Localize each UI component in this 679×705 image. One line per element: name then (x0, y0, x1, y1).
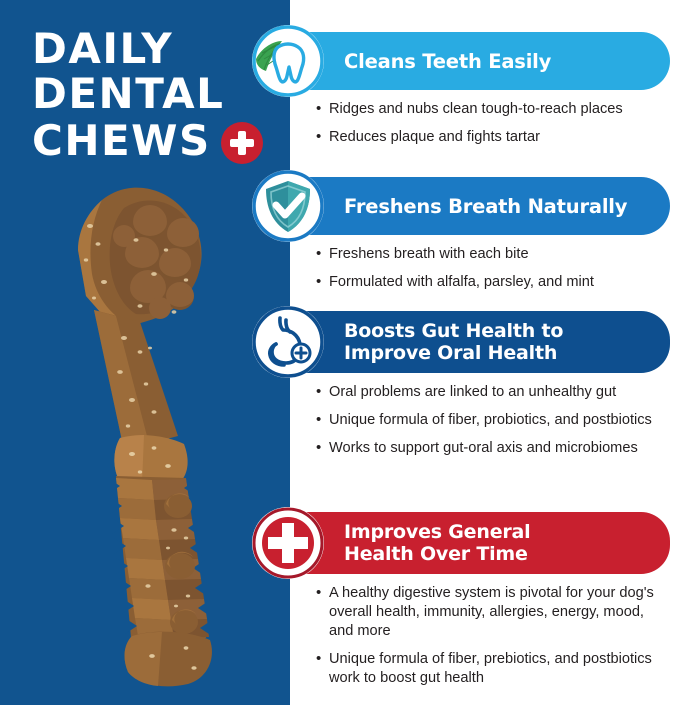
feature-title: Boosts Gut Health to Improve Oral Health (344, 320, 563, 364)
infographic-page: Daily Dental Chews (0, 0, 679, 705)
feature-banner: Freshens Breath Naturally (290, 177, 670, 235)
headline-line-3: Chews (32, 118, 211, 163)
features-column: Cleans Teeth Easily Ridges and nubs clea… (290, 0, 679, 705)
tooth-mint-leaf-icon (252, 25, 324, 97)
chew-head (78, 188, 202, 330)
chew-ridged-body (88, 474, 250, 648)
feature-bullets: Freshens breath with each bite Formulate… (290, 235, 679, 292)
page-title: Daily Dental Chews (32, 26, 272, 164)
left-brand-panel: Daily Dental Chews (0, 0, 290, 705)
feature-bullets: Oral problems are linked to an unhealthy… (290, 373, 679, 458)
list-item: Ridges and nubs clean tough-to-reach pla… (316, 100, 671, 119)
medical-plus-icon (221, 122, 263, 164)
list-item: Works to support gut-oral axis and micro… (316, 439, 671, 458)
feature-banner: Cleans Teeth Easily (290, 32, 670, 90)
feature-title-line-2: Health Over Time (344, 543, 531, 565)
feature-freshens-breath: Freshens Breath Naturally Freshens breat… (290, 177, 679, 301)
list-item: Unique formula of fiber, probiotics, and… (316, 411, 671, 430)
feature-bullets: Ridges and nubs clean tough-to-reach pla… (290, 90, 679, 147)
list-item: Freshens breath with each bite (316, 245, 671, 264)
list-item: Oral problems are linked to an unhealthy… (316, 383, 671, 402)
list-item: A healthy digestive system is pivotal fo… (316, 584, 671, 641)
list-item: Formulated with alfalfa, parsley, and mi… (316, 273, 671, 292)
feature-banner: Boosts Gut Health to Improve Oral Health (290, 311, 670, 373)
headline-row-3: Chews (32, 116, 272, 164)
feature-improves-general-health: Improves General Health Over Time A heal… (290, 512, 679, 697)
feature-title: Cleans Teeth Easily (344, 51, 551, 72)
headline-line-1: Daily (32, 26, 272, 71)
list-item: Unique formula of fiber, prebiotics, and… (316, 650, 671, 688)
feature-bullets: A healthy digestive system is pivotal fo… (290, 574, 679, 688)
chew-shaft (94, 310, 178, 450)
feature-title-line-1: Improves General (344, 521, 531, 543)
headline-line-2: Dental (32, 71, 272, 116)
medical-cross-circle-icon (252, 507, 324, 579)
feature-banner: Improves General Health Over Time (290, 512, 670, 574)
list-item: Reduces plaque and fights tartar (316, 128, 671, 147)
dog-dental-chew-illustration (28, 186, 264, 696)
shield-check-icon (252, 170, 324, 242)
feature-boosts-gut-health: Boosts Gut Health to Improve Oral Health… (290, 311, 679, 467)
chew-bottom-cap (125, 632, 212, 687)
feature-title: Improves General Health Over Time (344, 521, 531, 565)
feature-cleans-teeth: Cleans Teeth Easily Ridges and nubs clea… (290, 32, 679, 156)
feature-title-line-1: Boosts Gut Health to (344, 320, 563, 342)
stomach-plus-icon (252, 306, 324, 378)
feature-title-line-2: Improve Oral Health (344, 342, 563, 364)
feature-title: Freshens Breath Naturally (344, 196, 627, 217)
